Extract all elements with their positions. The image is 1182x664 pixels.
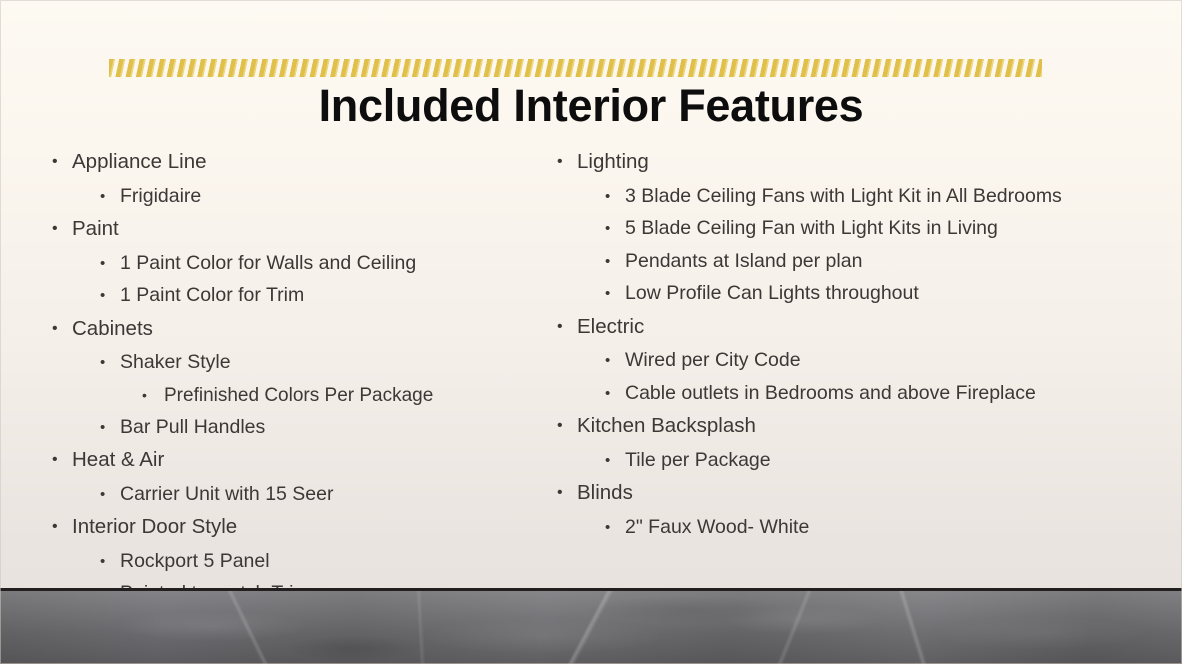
feature-item-label: Appliance Line bbox=[72, 152, 207, 173]
bullet-glyph-icon: • bbox=[100, 420, 114, 435]
feature-item-label: 5 Blade Ceiling Fan with Light Kits in L… bbox=[625, 219, 998, 239]
presentation-slide: Included Interior Features •Appliance Li… bbox=[0, 0, 1182, 664]
bullet-glyph-icon: • bbox=[605, 254, 619, 269]
stone-scratches bbox=[0, 591, 1182, 664]
bullet-glyph-icon: • bbox=[100, 189, 114, 204]
feature-item-label: Kitchen Backsplash bbox=[577, 416, 756, 437]
bullet-glyph-icon: • bbox=[100, 288, 114, 303]
feature-item-level-2: •Frigidaire bbox=[100, 187, 546, 207]
feature-item-label: Prefinished Colors Per Package bbox=[164, 386, 433, 405]
feature-item-level-1: •Lighting bbox=[557, 152, 1111, 173]
bullet-glyph-icon: • bbox=[605, 353, 619, 368]
bullet-glyph-icon: • bbox=[605, 286, 619, 301]
feature-item-label: Frigidaire bbox=[120, 187, 201, 207]
feature-item-level-2: •Cable outlets in Bedrooms and above Fir… bbox=[605, 384, 1111, 404]
right-column: •Lighting•3 Blade Ceiling Fans with Ligh… bbox=[551, 152, 1111, 550]
feature-item-level-2: •1 Paint Color for Trim bbox=[100, 286, 546, 306]
bullet-glyph-icon: • bbox=[605, 189, 619, 204]
bullet-glyph-icon: • bbox=[557, 418, 571, 434]
bullet-glyph-icon: • bbox=[557, 319, 571, 335]
feature-item-level-1: •Blinds bbox=[557, 483, 1111, 504]
feature-item-level-2: •Tile per Package bbox=[605, 451, 1111, 471]
right-feature-list: •Lighting•3 Blade Ceiling Fans with Ligh… bbox=[551, 152, 1111, 537]
bullet-glyph-icon: • bbox=[100, 554, 114, 569]
bullet-glyph-icon: • bbox=[557, 485, 571, 501]
bullet-glyph-icon: • bbox=[142, 388, 156, 402]
feature-item-label: Shaker Style bbox=[120, 353, 231, 373]
bullet-glyph-icon: • bbox=[52, 154, 66, 170]
bottom-stone-photo-band bbox=[0, 588, 1182, 664]
bullet-glyph-icon: • bbox=[557, 154, 571, 170]
feature-item-level-2: •3 Blade Ceiling Fans with Light Kit in … bbox=[605, 187, 1111, 207]
bullet-glyph-icon: • bbox=[605, 453, 619, 468]
feature-item-level-2: •1 Paint Color for Walls and Ceiling bbox=[100, 254, 546, 274]
feature-item-label: 3 Blade Ceiling Fans with Light Kit in A… bbox=[625, 187, 1062, 207]
bullet-glyph-icon: • bbox=[52, 221, 66, 237]
bullet-glyph-icon: • bbox=[52, 519, 66, 535]
feature-item-level-1: •Heat & Air bbox=[52, 450, 546, 471]
feature-item-label: Low Profile Can Lights throughout bbox=[625, 284, 919, 304]
decorative-stripe-rule bbox=[109, 59, 1042, 77]
feature-item-level-1: •Appliance Line bbox=[52, 152, 546, 173]
feature-item-label: 1 Paint Color for Walls and Ceiling bbox=[120, 254, 416, 274]
feature-item-level-1: •Interior Door Style bbox=[52, 517, 546, 538]
feature-item-level-1: •Paint bbox=[52, 219, 546, 240]
bullet-glyph-icon: • bbox=[100, 256, 114, 271]
feature-item-label: 1 Paint Color for Trim bbox=[120, 286, 304, 306]
feature-item-level-1: •Electric bbox=[557, 317, 1111, 338]
feature-item-level-2: •2" Faux Wood- White bbox=[605, 518, 1111, 538]
feature-item-level-2: •Shaker Style bbox=[100, 353, 546, 373]
feature-item-label: Cable outlets in Bedrooms and above Fire… bbox=[625, 384, 1036, 404]
left-column: •Appliance Line•Frigidaire•Paint•1 Paint… bbox=[46, 152, 546, 617]
photo-band-top-rule bbox=[0, 588, 1182, 591]
feature-item-label: Paint bbox=[72, 219, 119, 240]
slide-title: Included Interior Features bbox=[0, 82, 1182, 129]
feature-item-label: Interior Door Style bbox=[72, 517, 237, 538]
feature-item-level-1: •Cabinets bbox=[52, 319, 546, 340]
feature-item-label: Wired per City Code bbox=[625, 351, 801, 371]
feature-item-label: Bar Pull Handles bbox=[120, 418, 265, 438]
feature-item-label: Pendants at Island per plan bbox=[625, 252, 862, 272]
bullet-glyph-icon: • bbox=[605, 386, 619, 401]
feature-item-label: Heat & Air bbox=[72, 450, 164, 471]
feature-item-level-2: •Bar Pull Handles bbox=[100, 418, 546, 438]
feature-item-level-2: •Pendants at Island per plan bbox=[605, 252, 1111, 272]
bullet-glyph-icon: • bbox=[52, 452, 66, 468]
feature-item-label: Lighting bbox=[577, 152, 649, 173]
bullet-glyph-icon: • bbox=[52, 321, 66, 337]
feature-item-label: Cabinets bbox=[72, 319, 153, 340]
bullet-glyph-icon: • bbox=[100, 487, 114, 502]
left-feature-list: •Appliance Line•Frigidaire•Paint•1 Paint… bbox=[46, 152, 546, 604]
feature-item-label: 2" Faux Wood- White bbox=[625, 518, 809, 538]
feature-item-level-3: •Prefinished Colors Per Package bbox=[142, 386, 546, 405]
feature-item-level-1: •Kitchen Backsplash bbox=[557, 416, 1111, 437]
feature-item-label: Tile per Package bbox=[625, 451, 771, 471]
feature-item-label: Electric bbox=[577, 317, 644, 338]
feature-item-level-2: •Low Profile Can Lights throughout bbox=[605, 284, 1111, 304]
content-columns: •Appliance Line•Frigidaire•Paint•1 Paint… bbox=[0, 152, 1182, 572]
bullet-glyph-icon: • bbox=[605, 221, 619, 236]
feature-item-label: Rockport 5 Panel bbox=[120, 552, 270, 572]
bullet-glyph-icon: • bbox=[605, 520, 619, 535]
feature-item-label: Blinds bbox=[577, 483, 633, 504]
feature-item-level-2: •5 Blade Ceiling Fan with Light Kits in … bbox=[605, 219, 1111, 239]
feature-item-level-2: •Rockport 5 Panel bbox=[100, 552, 546, 572]
feature-item-label: Carrier Unit with 15 Seer bbox=[120, 485, 334, 505]
bullet-glyph-icon: • bbox=[100, 355, 114, 370]
feature-item-level-2: •Carrier Unit with 15 Seer bbox=[100, 485, 546, 505]
feature-item-level-2: •Wired per City Code bbox=[605, 351, 1111, 371]
